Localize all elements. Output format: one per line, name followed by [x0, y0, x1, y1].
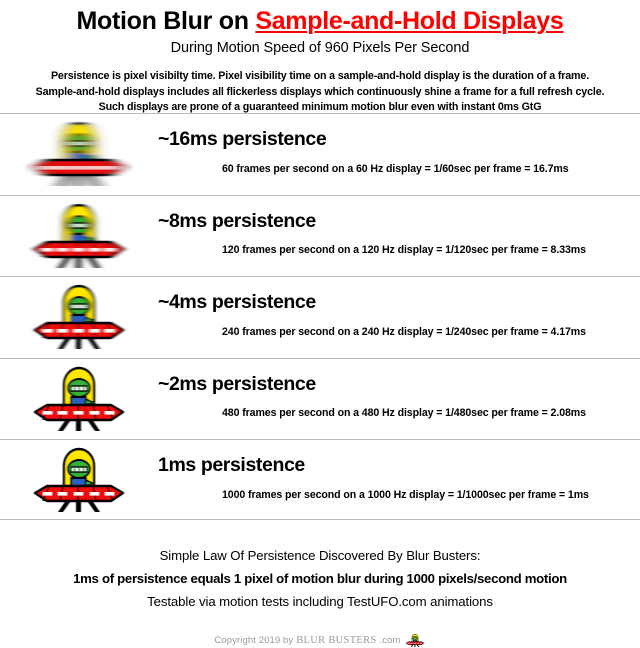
- persistence-row: ~8ms persistence120 frames per second on…: [0, 195, 640, 277]
- persistence-row: ~16ms persistence60 frames per second on…: [0, 113, 640, 195]
- ufo-icon: [25, 118, 133, 190]
- persistence-detail: 120 frames per second on a 120 Hz displa…: [158, 244, 630, 256]
- footer-line-2: 1ms of persistence equals 1 pixel of mot…: [0, 571, 640, 586]
- ufo-icon: [25, 200, 133, 272]
- persistence-row: ~2ms persistence480 frames per second on…: [0, 358, 640, 440]
- intro-line-1: Persistence is pixel visibilty time. Pix…: [0, 69, 640, 85]
- persistence-row: ~4ms persistence240 frames per second on…: [0, 276, 640, 358]
- persistence-detail: 480 frames per second on a 480 Hz displa…: [158, 407, 630, 419]
- copyright-prefix: Copyright 2019 by: [214, 635, 293, 646]
- persistence-row-list: ~16ms persistence60 frames per second on…: [0, 113, 640, 521]
- ufo-icon: [25, 444, 133, 516]
- persistence-heading: ~4ms persistence: [158, 293, 630, 313]
- persistence-row-body: ~4ms persistence240 frames per second on…: [158, 297, 640, 338]
- persistence-detail: 240 frames per second on a 240 Hz displa…: [158, 326, 630, 338]
- footer-line-1: Simple Law Of Persistence Discovered By …: [0, 548, 640, 563]
- persistence-heading: ~8ms persistence: [158, 212, 630, 232]
- poster-header: Motion Blur on Sample-and-Hold Displays …: [0, 0, 640, 116]
- ufo-icon-cell: [0, 359, 158, 440]
- ufo-icon: [25, 200, 133, 272]
- persistence-row-body: ~2ms persistence480 frames per second on…: [158, 379, 640, 420]
- ufo-icon: [404, 633, 426, 648]
- ufo-icon: [25, 118, 133, 190]
- persistence-row: 1ms persistence1000 frames per second on…: [0, 439, 640, 521]
- footer-line-3: Testable via motion tests including Test…: [0, 594, 640, 609]
- ufo-icon: [25, 281, 133, 353]
- intro-line-2: Sample-and-hold displays includes all fl…: [0, 85, 640, 101]
- ufo-icon: [25, 363, 133, 435]
- page-subtitle: During Motion Speed of 960 Pixels Per Se…: [0, 40, 640, 56]
- persistence-detail: 1000 frames per second on a 1000 Hz disp…: [158, 489, 630, 501]
- ufo-icon: [25, 363, 133, 435]
- ufo-icon: [25, 281, 133, 353]
- poster-footer: Simple Law Of Persistence Discovered By …: [0, 519, 640, 648]
- page-title-black: Motion Blur on: [77, 7, 256, 35]
- persistence-heading: ~2ms persistence: [158, 375, 630, 395]
- persistence-heading: ~16ms persistence: [158, 130, 630, 150]
- ufo-icon-cell: [0, 440, 158, 521]
- copyright-notice: Copyright 2019 by BLUR BUSTERS .com: [0, 633, 640, 648]
- copyright-brand: BLUR BUSTERS: [296, 635, 376, 646]
- persistence-row-body: 1ms persistence1000 frames per second on…: [158, 460, 640, 501]
- page-title: Motion Blur on Sample-and-Hold Displays: [0, 7, 640, 35]
- ufo-icon-cell: [0, 196, 158, 277]
- ufo-icon-cell: [0, 277, 158, 358]
- persistence-heading: 1ms persistence: [158, 456, 630, 476]
- copyright-suffix: .com: [380, 635, 401, 646]
- persistence-detail: 60 frames per second on a 60 Hz display …: [158, 163, 630, 175]
- persistence-row-body: ~16ms persistence60 frames per second on…: [158, 134, 640, 175]
- ufo-icon-cell: [0, 114, 158, 195]
- intro-paragraph: Persistence is pixel visibilty time. Pix…: [0, 69, 640, 116]
- persistence-row-body: ~8ms persistence120 frames per second on…: [158, 216, 640, 257]
- ufo-icon: [25, 444, 133, 516]
- ufo-icon: [404, 633, 426, 648]
- page-title-red: Sample-and-Hold Displays: [255, 7, 563, 35]
